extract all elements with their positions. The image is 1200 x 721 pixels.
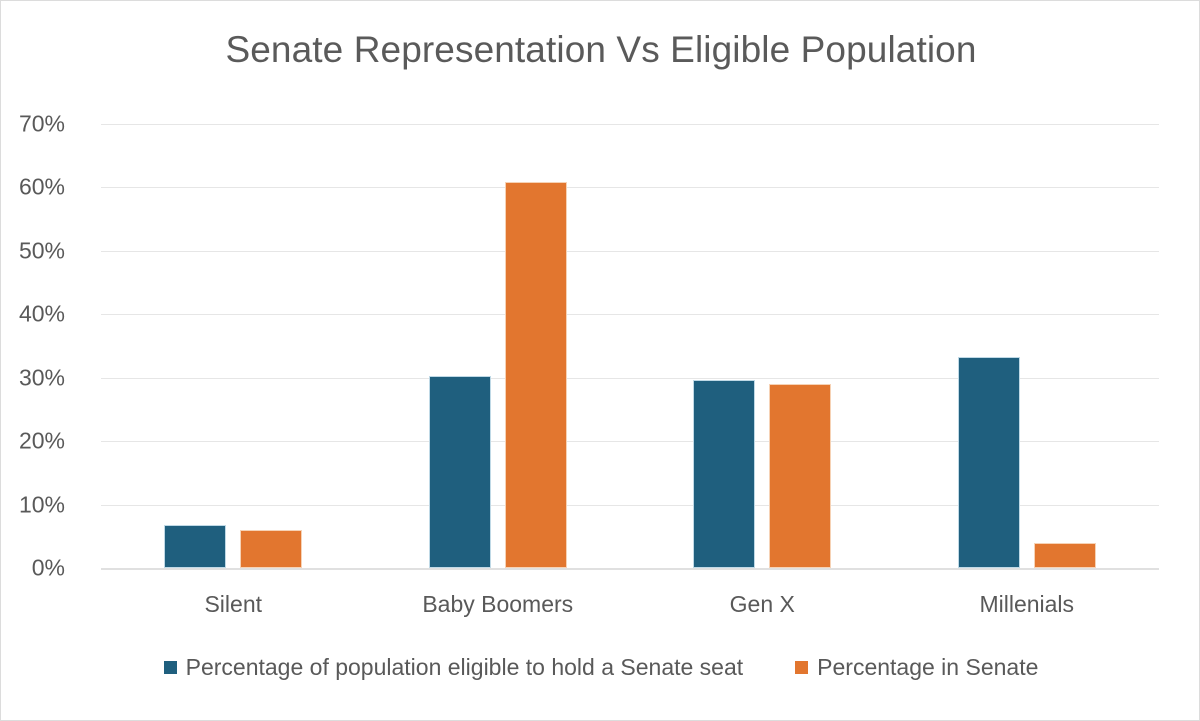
legend-label: Percentage of population eligible to hol… xyxy=(186,656,744,679)
y-axis-tick-label: 10% xyxy=(1,491,65,518)
chart-legend: Percentage of population eligible to hol… xyxy=(1,656,1200,679)
x-axis-category-label: Baby Boomers xyxy=(366,591,631,618)
y-axis-tick-label: 40% xyxy=(1,301,65,328)
y-axis-tick-label: 20% xyxy=(1,428,65,455)
bar-millenials-series-0 xyxy=(958,357,1020,568)
bar-baby-boomers-series-0 xyxy=(429,376,491,568)
chart-title: Senate Representation Vs Eligible Popula… xyxy=(1,29,1200,71)
gridline xyxy=(101,187,1159,188)
y-axis-tick-label: 60% xyxy=(1,174,65,201)
category-axis-line xyxy=(101,568,1159,570)
bar-millenials-series-1 xyxy=(1034,543,1096,568)
bar-silent-series-0 xyxy=(164,525,226,568)
legend-swatch-icon xyxy=(164,661,177,674)
legend-item-0[interactable]: Percentage of population eligible to hol… xyxy=(164,656,744,679)
bar-baby-boomers-series-1 xyxy=(505,182,567,568)
y-axis-tick-label: 50% xyxy=(1,237,65,264)
legend-swatch-icon xyxy=(795,661,808,674)
bar-gen-x-series-1 xyxy=(769,384,831,568)
x-axis-category-label: Silent xyxy=(101,591,366,618)
legend-item-1[interactable]: Percentage in Senate xyxy=(795,656,1038,679)
plot-area xyxy=(101,124,1159,568)
x-axis-category-label: Gen X xyxy=(630,591,895,618)
gridline xyxy=(101,314,1159,315)
legend-label: Percentage in Senate xyxy=(817,656,1038,679)
chart-container: Senate Representation Vs Eligible Popula… xyxy=(0,0,1200,721)
y-axis-tick-label: 30% xyxy=(1,364,65,391)
y-axis-tick-label: 70% xyxy=(1,111,65,138)
x-axis-category-label: Millenials xyxy=(895,591,1160,618)
gridline xyxy=(101,124,1159,125)
y-axis-tick-label: 0% xyxy=(1,555,65,582)
gridline xyxy=(101,251,1159,252)
bar-gen-x-series-0 xyxy=(693,380,755,568)
bar-silent-series-1 xyxy=(240,530,302,568)
